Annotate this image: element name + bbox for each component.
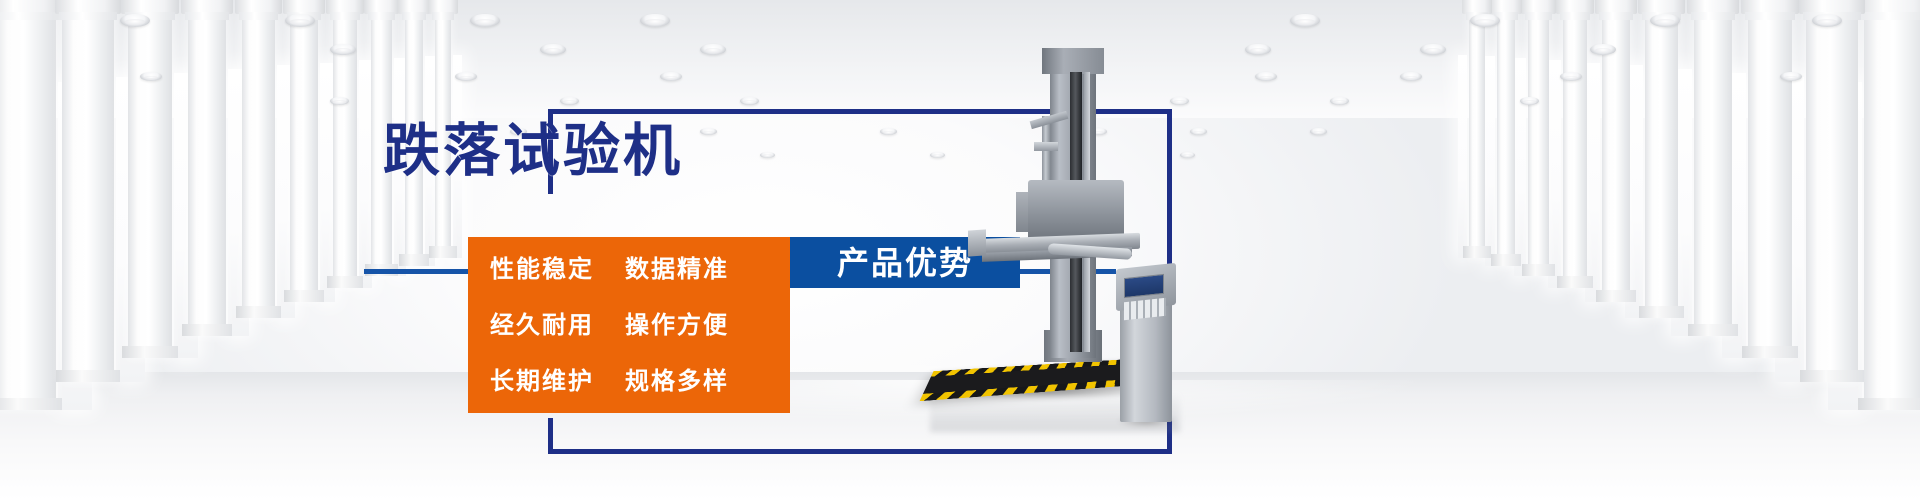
product-banner: 跌落试验机 性能稳定 数据精准 经久耐用 操作方便 长期维护 规格多样 产品优势	[0, 0, 1920, 500]
pillar-capital-ring	[0, 12, 59, 20]
pillar	[290, 10, 318, 302]
ceiling-spotlight	[1290, 14, 1320, 27]
pillar-capital-ring	[59, 12, 117, 20]
right-colonnade	[1450, 0, 1920, 430]
pillar-capital-ring	[330, 12, 360, 20]
frame-left-edge-lower	[548, 418, 553, 454]
ceiling-spotlight	[880, 128, 897, 135]
pillar	[1645, 10, 1678, 318]
ceiling-spotlight	[740, 97, 759, 105]
pillar-base	[1688, 324, 1738, 336]
pillar	[0, 10, 56, 410]
ceiling-spotlight	[1590, 44, 1616, 55]
feature-item: 性能稳定	[490, 255, 625, 283]
ceiling-spotlight	[660, 72, 682, 81]
pillar-base	[284, 290, 324, 302]
pillar	[1497, 10, 1515, 266]
pillar	[128, 10, 172, 358]
light-panel	[1458, 55, 1467, 258]
ceiling-spotlight	[330, 44, 356, 55]
pillar-base	[327, 276, 363, 288]
left-connector-rule	[364, 269, 470, 274]
pillar-base	[1522, 264, 1555, 276]
pillar-capital-ring	[1560, 12, 1590, 20]
pillar-base	[182, 324, 232, 336]
lift-arm-clamp	[1034, 142, 1058, 151]
ceiling-spotlight	[700, 128, 717, 135]
ceiling-spotlight	[540, 44, 566, 55]
ceiling-spotlight	[1400, 72, 1422, 81]
ceiling-spotlight	[1330, 97, 1349, 105]
pillar-capital-ring	[1861, 12, 1920, 20]
frame-bottom-edge	[548, 449, 1172, 454]
feature-item: 长期维护	[490, 367, 625, 395]
pillar-base	[236, 306, 281, 318]
left-colonnade	[0, 0, 470, 430]
pillar	[1694, 10, 1732, 336]
ceiling-spotlight	[330, 97, 349, 105]
pillar	[1469, 10, 1485, 258]
ceiling-spotlight	[1245, 44, 1271, 55]
ceiling-spotlight	[1560, 72, 1582, 81]
ceiling-spotlight	[1470, 14, 1500, 27]
pillar	[188, 10, 226, 336]
ceiling-spotlight	[1520, 97, 1539, 105]
pillar-base	[0, 398, 62, 410]
feature-list: 性能稳定 数据精准 经久耐用 操作方便 长期维护 规格多样	[468, 237, 790, 413]
console-screen	[1124, 274, 1164, 298]
ceiling-spotlight	[285, 14, 315, 27]
page-title: 跌落试验机	[383, 120, 683, 182]
ceiling-spotlight	[640, 14, 670, 27]
feature-item: 数据精准	[625, 255, 760, 283]
feature-item: 规格多样	[625, 367, 760, 395]
pillar-base	[1800, 370, 1864, 382]
light-panel	[1485, 56, 1495, 266]
pillar-base	[1742, 346, 1798, 358]
ceiling-spotlight	[1812, 14, 1842, 27]
ceiling-spotlight	[760, 152, 775, 158]
light-panel	[1514, 58, 1526, 276]
ceiling-spotlight	[560, 97, 579, 105]
pillar-capital-ring	[402, 12, 426, 20]
pillar-capital-ring	[1525, 12, 1552, 20]
ceiling-spotlight	[1420, 44, 1446, 55]
ceiling-spotlight	[455, 72, 477, 81]
pillar	[242, 10, 275, 318]
ceiling-spotlight	[1255, 72, 1277, 81]
pillar-capital-ring	[368, 12, 395, 20]
ceiling-spotlight	[1310, 128, 1327, 135]
pillar	[1563, 10, 1587, 288]
pillar-capital-ring	[1691, 12, 1735, 20]
pillar-base	[1596, 290, 1636, 302]
hazard-stripe-front	[931, 359, 1133, 376]
drop-carriage	[1028, 180, 1124, 242]
pillar-base	[1557, 276, 1593, 288]
feature-item: 经久耐用	[490, 311, 625, 339]
ceiling-spotlight	[1650, 14, 1680, 27]
pillar-base	[429, 246, 457, 258]
pillar-base	[1858, 398, 1920, 410]
pillar	[1806, 10, 1858, 382]
pillar-capital-ring	[1745, 12, 1795, 20]
ceiling-spotlight	[470, 14, 500, 27]
ceiling-spotlight	[140, 72, 162, 81]
mast-head	[1042, 48, 1104, 74]
pillar	[62, 10, 114, 382]
feature-item: 操作方便	[625, 311, 760, 339]
pillar-base	[56, 370, 120, 382]
pillar-capital-ring	[1599, 12, 1633, 20]
pillar-base	[1463, 246, 1491, 258]
support-table-tip	[968, 229, 986, 256]
pillar-base	[122, 346, 178, 358]
pillar	[1864, 10, 1920, 410]
feature-row: 长期维护 规格多样	[490, 355, 790, 407]
pillar-capital-ring	[185, 12, 229, 20]
drop-test-machine-image	[930, 30, 1240, 430]
pillar	[1748, 10, 1792, 358]
pillar	[1528, 10, 1549, 276]
pillar-base	[399, 254, 429, 266]
light-panel	[1548, 60, 1561, 288]
feature-row: 经久耐用 操作方便	[490, 299, 790, 351]
ceiling-spotlight	[700, 44, 726, 55]
ceiling-spotlight	[120, 14, 150, 27]
pillar-capital-ring	[432, 12, 454, 20]
feature-row: 性能稳定 数据精准	[490, 243, 790, 295]
ceiling-spotlight	[1780, 72, 1802, 81]
pillar-base	[1639, 306, 1684, 318]
pillar-base	[1491, 254, 1521, 266]
pillar-capital-ring	[239, 12, 278, 20]
